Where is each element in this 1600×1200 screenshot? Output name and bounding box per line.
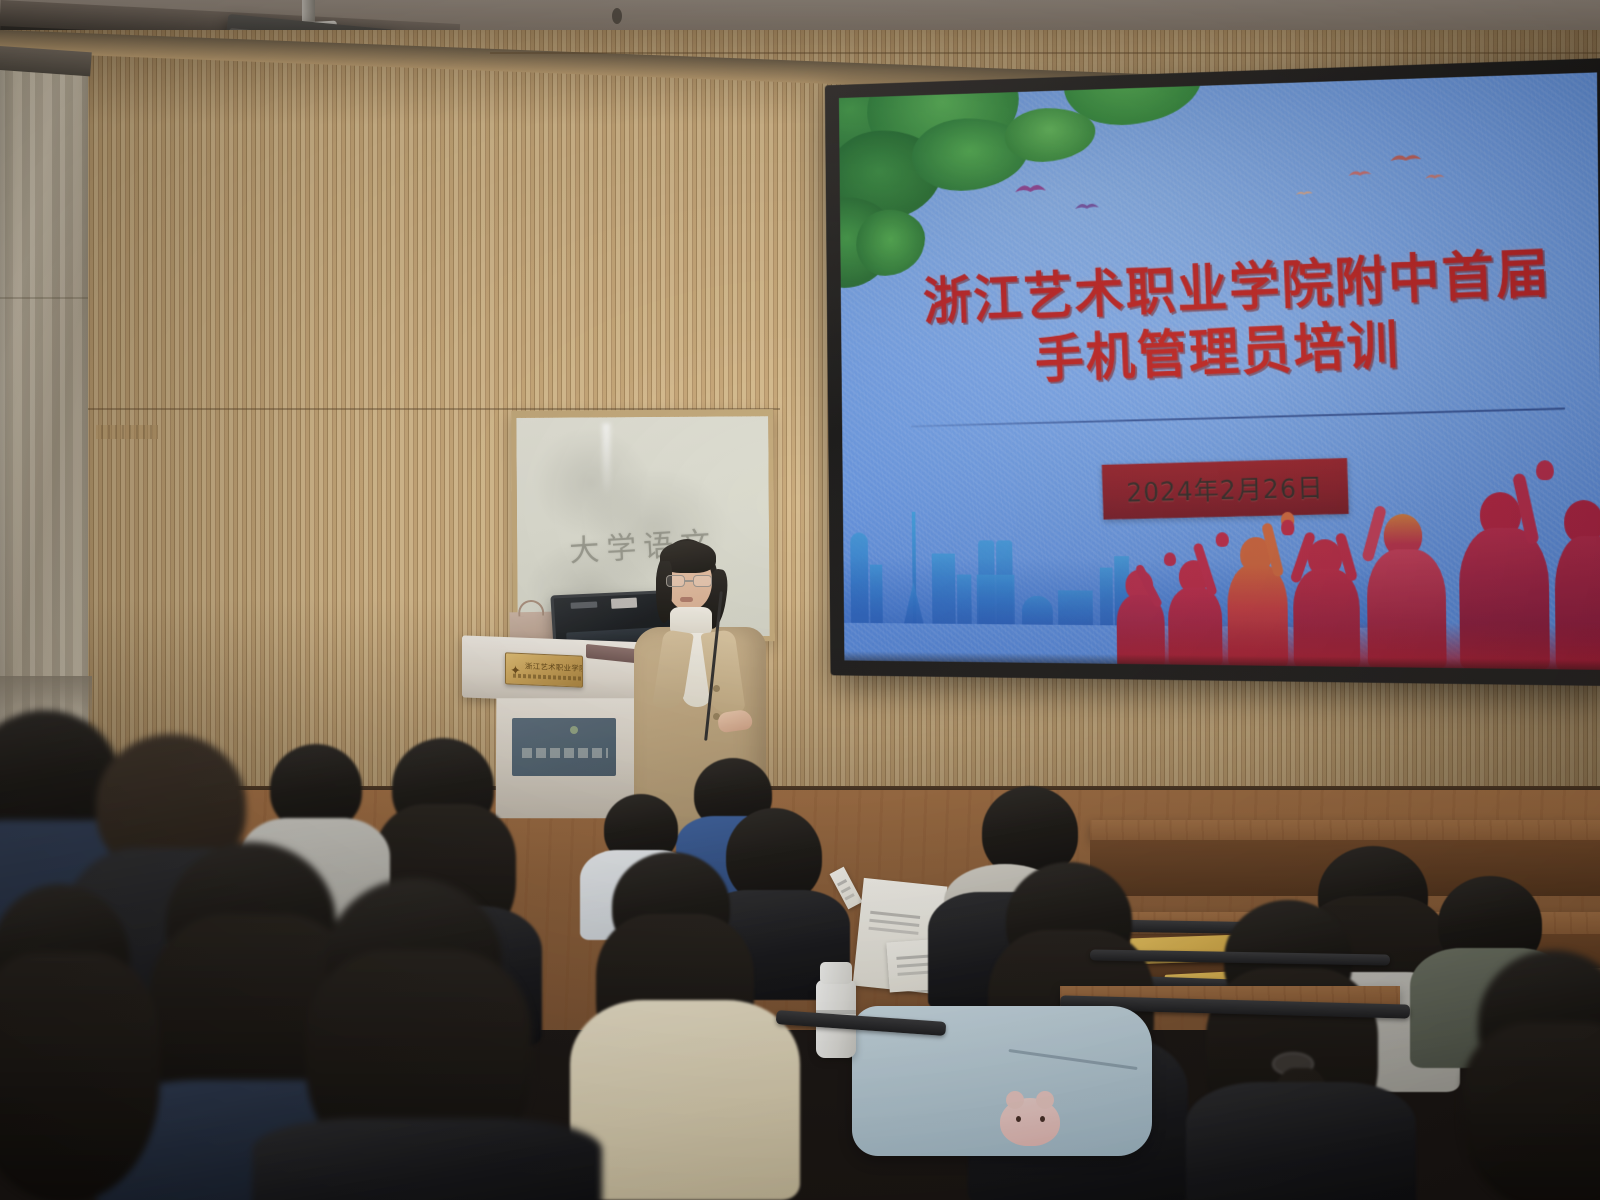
window-curtain <box>0 52 88 732</box>
audience-area: 音乐学院 <box>0 700 1600 1200</box>
screen-vignette <box>839 72 1600 670</box>
pink-plush-toy <box>1000 1098 1060 1146</box>
audience-body <box>570 1000 800 1200</box>
screen-surface: 浙江艺术职业学院附中首届 手机管理员培训 2024年2月26日 <box>839 72 1600 670</box>
audience-hair-foreground <box>1462 1022 1600 1200</box>
audience-hair-foreground <box>0 952 160 1200</box>
coat-button <box>713 685 720 692</box>
bottle-cap <box>820 962 852 984</box>
bag-zipper <box>1008 1049 1137 1070</box>
audience-body-foreground <box>252 1118 602 1200</box>
eyeglasses-icon <box>666 575 712 587</box>
screen-bezel: 浙江艺术职业学院附中首届 手机管理员培训 2024年2月26日 <box>825 58 1600 686</box>
whiteboard-glare <box>602 423 611 497</box>
curtain-fold <box>0 297 88 299</box>
lecture-hall-photo: 浙江艺术职业学院附中首届 手机管理员培训 2024年2月26日 <box>0 0 1600 1200</box>
wall-seam-top <box>490 52 1600 54</box>
presenter-mouth <box>680 597 693 602</box>
desk-row-back <box>1090 820 1600 840</box>
monitor-brand-label <box>571 601 598 608</box>
wall-vent-icon <box>96 425 158 439</box>
led-presentation-screen[interactable]: 浙江艺术职业学院附中首届 手机管理员培训 2024年2月26日 <box>825 58 1600 686</box>
plaque-subtitle-line <box>513 674 581 681</box>
plaque-institution-name: 浙江艺术职业学院 <box>525 661 583 674</box>
podium-plaque: ✦ 浙江艺术职业学院 <box>505 652 583 687</box>
ceiling-fixture-dot <box>612 8 622 24</box>
monitor-sticker <box>611 598 637 609</box>
audience-body <box>1186 1082 1416 1200</box>
